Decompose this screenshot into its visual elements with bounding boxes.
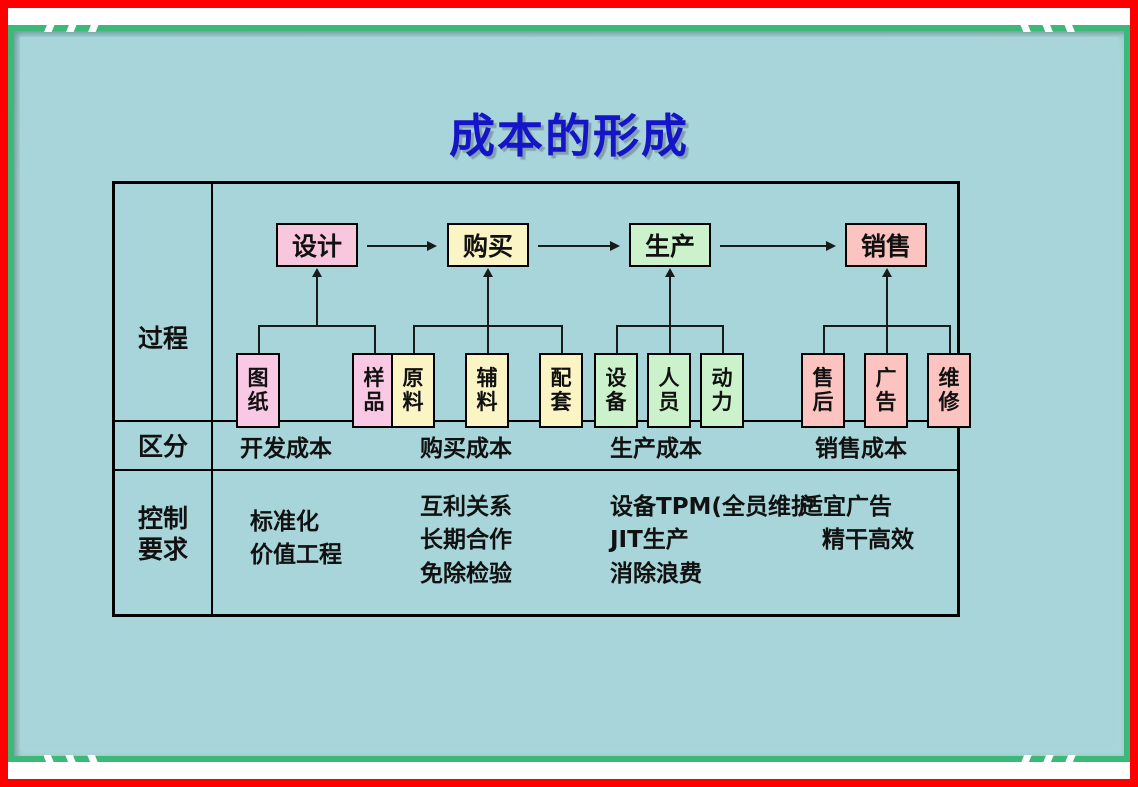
tree-drop-purchase-1 [413, 325, 415, 354]
sub-box-sales-after-sales[interactable]: 售 后 [801, 353, 845, 428]
row-label-classification: 区分 [115, 432, 211, 463]
table-column-divider [211, 184, 213, 614]
sub-box-line1: 辅 [477, 367, 498, 390]
tree-drop-sales-3 [949, 325, 951, 354]
flow-arrow-purchase-to-production [538, 245, 618, 247]
process-box-production[interactable]: 生产 [629, 223, 711, 267]
sub-box-production-equipment[interactable]: 设 备 [594, 353, 638, 428]
flow-arrow-production-to-sales [720, 245, 834, 247]
sub-box-line1: 图 [248, 367, 269, 390]
control-item: 标准化 [250, 506, 342, 539]
sub-box-line1: 样 [364, 367, 385, 390]
sub-box-line2: 后 [813, 391, 834, 414]
tree-drop-production-3 [722, 325, 724, 354]
control-block-sales: 适宜广告 精干高效 [800, 491, 914, 558]
control-item: 互利关系 [420, 491, 512, 524]
sub-box-line2: 纸 [248, 391, 269, 414]
sub-box-production-power[interactable]: 动 力 [700, 353, 744, 428]
row-label-control-line1: 控制 [115, 504, 211, 535]
sub-box-line2: 力 [712, 391, 733, 414]
control-item: JIT生产 [610, 524, 814, 557]
sub-box-line1: 设 [606, 367, 627, 390]
sub-box-line1: 动 [712, 367, 733, 390]
sub-box-purchase-raw-material[interactable]: 原 料 [391, 353, 435, 428]
row-label-control: 控制 要求 [115, 504, 211, 565]
control-block-purchase: 互利关系 长期合作 免除检验 [420, 491, 512, 591]
control-block-design: 标准化 价值工程 [250, 506, 342, 573]
process-box-design[interactable]: 设计 [276, 223, 358, 267]
classification-label-development-cost: 开发成本 [240, 429, 332, 463]
sub-box-line1: 售 [813, 367, 834, 390]
tree-drop-production-2 [669, 325, 671, 354]
tree-drop-sales-2 [886, 325, 888, 354]
tree-drop-design-1 [258, 325, 260, 354]
tree-drop-production-1 [616, 325, 618, 354]
tree-stem-purchase [487, 276, 489, 326]
tree-drop-purchase-2 [487, 325, 489, 354]
sub-box-line1: 人 [659, 367, 680, 390]
sub-box-sales-advertising[interactable]: 广 告 [864, 353, 908, 428]
control-item: 设备TPM(全员维护 [610, 491, 814, 524]
sub-box-line1: 广 [876, 367, 897, 390]
tree-bar-design [258, 325, 375, 327]
control-item: 免除检验 [420, 558, 512, 591]
decorative-stripes-top-left [44, 12, 124, 32]
sub-box-line2: 员 [659, 391, 680, 414]
table-row-divider-classification-control [115, 469, 957, 471]
sub-box-line2: 修 [939, 391, 960, 414]
tree-stem-design [316, 276, 318, 326]
tree-drop-purchase-3 [561, 325, 563, 354]
row-label-control-line2: 要求 [115, 535, 211, 566]
classification-label-sales-cost: 销售成本 [815, 429, 907, 463]
process-box-purchase[interactable]: 购买 [447, 223, 529, 267]
tree-drop-sales-1 [823, 325, 825, 354]
decorative-stripes-top-right [1012, 12, 1092, 32]
sub-box-production-personnel[interactable]: 人 员 [647, 353, 691, 428]
cost-formation-table: 过程 区分 控制 要求 设计 购买 生产 销售 图 纸 样 品 [112, 181, 960, 617]
process-box-sales[interactable]: 销售 [845, 223, 927, 267]
sub-box-design-sample[interactable]: 样 品 [352, 353, 396, 428]
sub-box-line1: 维 [939, 367, 960, 390]
decorative-stripes-bottom-right [1012, 755, 1092, 775]
tree-drop-design-2 [374, 325, 376, 354]
flow-arrow-design-to-purchase [367, 245, 435, 247]
sub-box-purchase-auxiliary-material[interactable]: 辅 料 [465, 353, 509, 428]
sub-box-line1: 配 [551, 367, 572, 390]
sub-box-line2: 料 [403, 391, 424, 414]
sub-box-line2: 品 [364, 391, 385, 414]
sub-box-line1: 原 [403, 367, 424, 390]
sub-box-purchase-accessories[interactable]: 配 套 [539, 353, 583, 428]
control-item: 适宜广告 [800, 491, 914, 524]
control-item: 长期合作 [420, 524, 512, 557]
control-item: 消除浪费 [610, 558, 814, 591]
sub-box-line2: 告 [876, 391, 897, 414]
row-label-process: 过程 [115, 324, 211, 355]
sub-box-line2: 料 [477, 391, 498, 414]
sub-box-sales-maintenance[interactable]: 维 修 [927, 353, 971, 428]
tree-stem-sales [886, 276, 888, 326]
classification-label-purchase-cost: 购买成本 [420, 429, 512, 463]
tree-stem-production [669, 276, 671, 326]
control-item: 精干高效 [822, 524, 914, 557]
slide-title: 成本的形成 [0, 100, 1138, 166]
sub-box-design-drawing[interactable]: 图 纸 [236, 353, 280, 428]
decorative-stripes-bottom-left [44, 755, 124, 775]
control-item: 价值工程 [250, 539, 342, 572]
sub-box-line2: 备 [606, 391, 627, 414]
control-block-production: 设备TPM(全员维护 JIT生产 消除浪费 [610, 491, 814, 591]
slide-canvas: 成本的形成 过程 区分 控制 要求 设计 购买 生产 销售 图 纸 样 [0, 0, 1138, 787]
sub-box-line2: 套 [551, 391, 572, 414]
classification-label-production-cost: 生产成本 [610, 429, 702, 463]
